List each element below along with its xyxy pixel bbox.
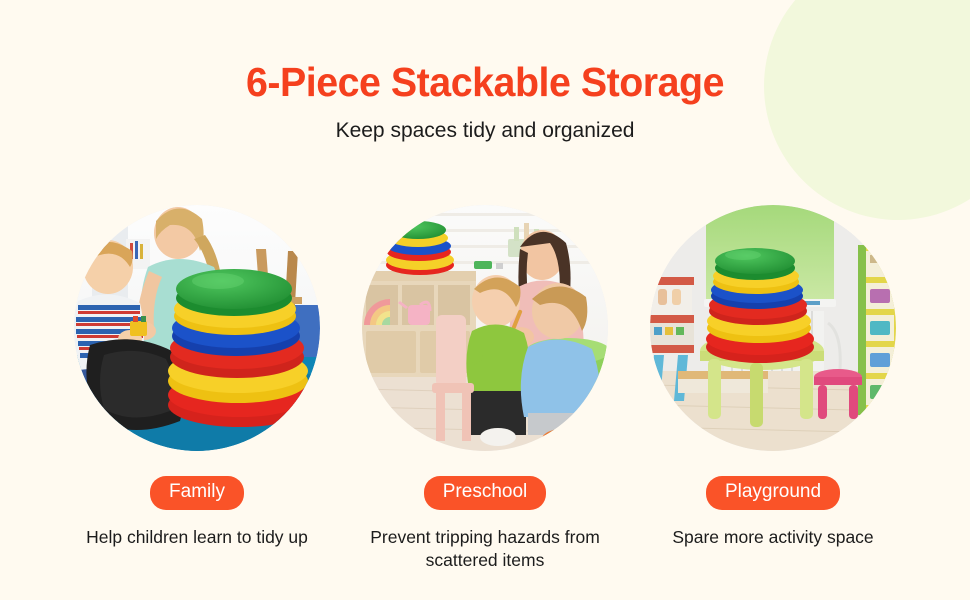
caption-family: Help children learn to tidy up [67,526,327,549]
badge-preschool: Preschool [424,476,547,510]
preschool-photo [362,205,608,451]
caption-playground: Spare more activity space [643,526,903,549]
banner-header: 6-Piece Stackable Storage Keep spaces ti… [0,0,970,143]
feature-card-preschool: Preschool Prevent tripping hazards from … [362,205,608,572]
page-title: 6-Piece Stackable Storage [19,60,950,106]
promo-banner: 6-Piece Stackable Storage Keep spaces ti… [0,0,970,600]
feature-card-playground: Playground Spare more activity space [650,205,896,572]
caption-preschool: Prevent tripping hazards from scattered … [355,526,615,572]
feature-card-row: Family Help children learn to tidy up [0,205,970,572]
playground-photo [650,205,896,451]
page-subtitle: Keep spaces tidy and organized [0,118,970,143]
badge-family: Family [150,476,244,510]
feature-card-family: Family Help children learn to tidy up [74,205,320,572]
badge-playground: Playground [706,476,840,510]
family-photo [74,205,320,451]
